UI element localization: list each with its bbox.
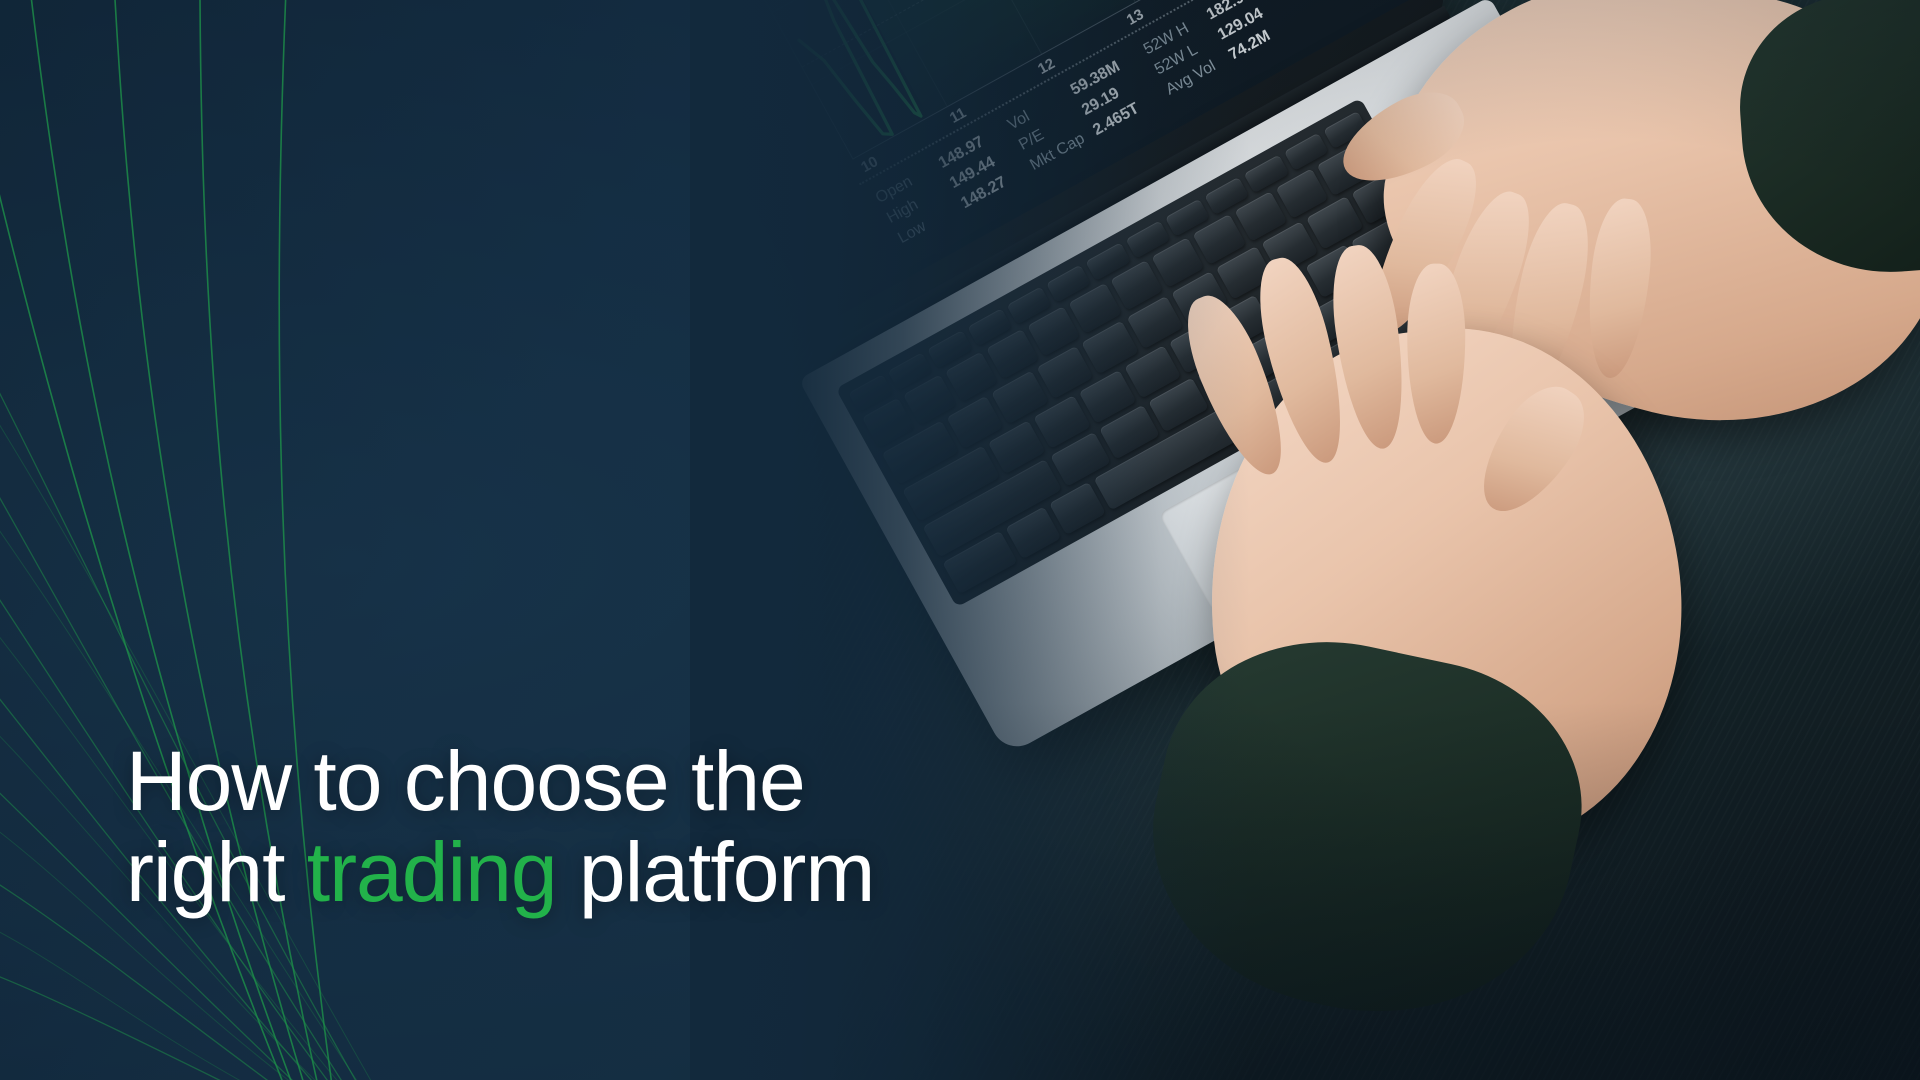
headline-line-2: right trading platform [126,827,1066,918]
headline-before: right [126,825,307,919]
headline-line-1: How to choose the [126,736,1066,827]
laptop-photo: AAPL 1D 148.27 [690,0,1920,1080]
headline-highlight: trading [307,825,557,919]
hero-banner: AAPL 1D 148.27 [0,0,1920,1080]
page-title: How to choose the right trading platform [126,736,1066,917]
headline-after: platform [557,825,875,919]
